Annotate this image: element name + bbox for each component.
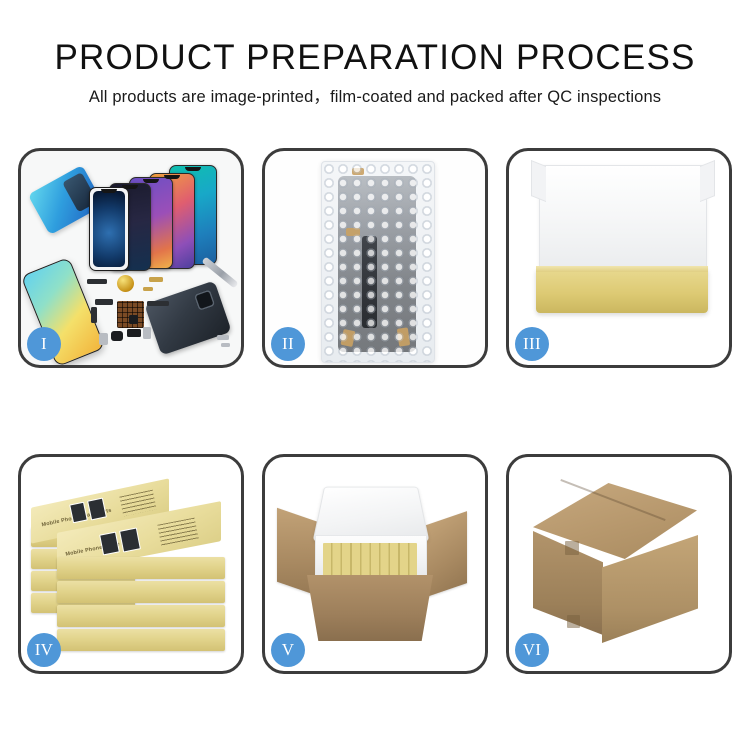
box-stack: Mobile Phone Spare Parts Mobile Phone Sp… <box>29 469 239 665</box>
spare-part <box>217 335 229 340</box>
process-panel-grid: I II III <box>18 148 732 676</box>
notch-icon <box>164 175 180 179</box>
stacked-box-side <box>57 557 225 579</box>
kraft-box-tray <box>536 269 708 313</box>
spare-part <box>91 307 97 323</box>
process-step-panel-5[interactable]: V <box>262 454 488 674</box>
phone-screen-1 <box>89 187 129 271</box>
spare-part <box>143 287 153 291</box>
phone-fan-group <box>77 159 241 269</box>
stacked-box-side <box>57 629 225 651</box>
stacked-box-side <box>57 605 225 627</box>
step-badge-2: II <box>271 327 305 361</box>
page-subtitle: All products are image-printed，film-coat… <box>0 86 750 108</box>
notch-icon <box>143 179 159 183</box>
notch-icon <box>101 189 117 193</box>
foam-lid <box>313 487 430 542</box>
step-badge-6: VI <box>515 633 549 667</box>
process-step-panel-6[interactable]: VI <box>506 454 732 674</box>
process-step-panel-2[interactable]: II <box>262 148 488 368</box>
spare-part <box>95 299 113 305</box>
process-step-panel-3[interactable]: III <box>506 148 732 368</box>
notch-icon <box>185 167 201 171</box>
box-lid <box>539 165 707 277</box>
tape-tab <box>352 168 364 175</box>
spare-part <box>221 343 230 347</box>
spare-part <box>143 327 151 339</box>
spare-part <box>147 301 169 306</box>
carton-tape-patch <box>567 615 580 628</box>
process-step-panel-1[interactable]: I <box>18 148 244 368</box>
stacked-box-side <box>57 581 225 603</box>
phone-chassis <box>144 280 232 355</box>
spare-part <box>99 333 108 345</box>
bubble-wrap-bag <box>321 161 435 363</box>
notch-icon <box>122 185 138 189</box>
step-badge-3: III <box>515 327 549 361</box>
tape-tab <box>346 228 360 236</box>
page-header: PRODUCT PREPARATION PROCESS All products… <box>0 0 750 108</box>
flex-cable <box>362 236 377 328</box>
spare-part <box>111 331 123 341</box>
spare-part <box>149 277 163 282</box>
step-badge-5: V <box>271 633 305 667</box>
page-title: PRODUCT PREPARATION PROCESS <box>0 38 750 78</box>
spare-part <box>127 329 141 337</box>
tape-tab <box>397 327 410 346</box>
step-badge-1: I <box>27 327 61 361</box>
wrapped-screen <box>338 176 416 352</box>
gold-component <box>117 275 134 292</box>
carton-tape-patch <box>565 541 579 555</box>
carton-front-wall <box>307 575 433 641</box>
process-step-panel-4[interactable]: Mobile Phone Spare Parts Mobile Phone Sp… <box>18 454 244 674</box>
packed-yellow-boxes <box>323 543 417 577</box>
spare-part <box>129 315 138 324</box>
spare-part <box>87 279 107 284</box>
step-badge-4: IV <box>27 633 61 667</box>
box-label-image <box>119 527 141 552</box>
